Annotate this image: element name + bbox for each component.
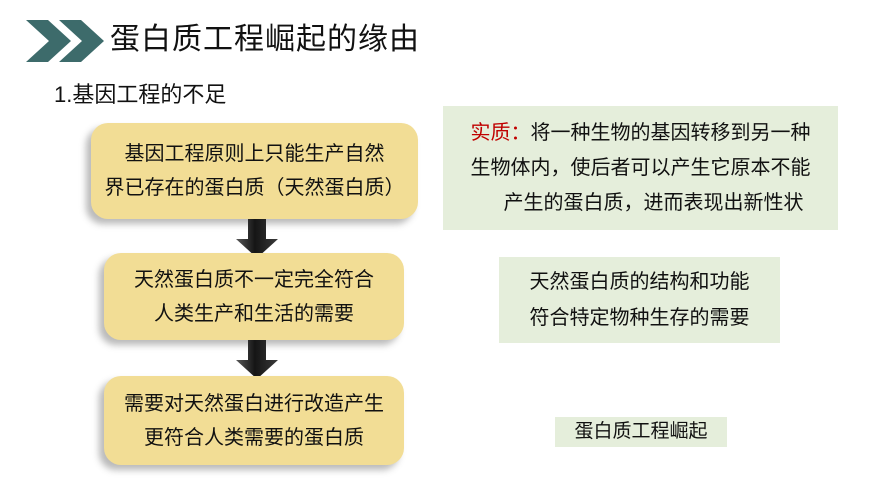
flow-box-line: 人类生产和生活的需要 — [154, 297, 354, 331]
panel-essence: 实质：将一种生物的基因转移到另一种 生物体内，使后者可以产生它原本不能 产生的蛋… — [443, 106, 838, 230]
flow-box-need-modification: 需要对天然蛋白进行改造产生 更符合人类需要的蛋白质 — [104, 376, 404, 465]
panel-essence-line-1: 实质：将一种生物的基因转移到另一种 — [471, 116, 811, 151]
panel-essence-line-3: 产生的蛋白质，进而表现出新性状 — [478, 186, 804, 221]
flow-box-line: 更符合人类需要的蛋白质 — [144, 421, 364, 455]
flow-box-line: 基因工程原则上只能生产自然 — [125, 137, 385, 171]
panel-essence-text-1: 将一种生物的基因转移到另一种 — [531, 122, 811, 144]
panel-structure-function: 天然蛋白质的结构和功能 符合特定物种生存的需要 — [499, 257, 780, 343]
slide-canvas: 蛋白质工程崛起的缘由 1.基因工程的不足 基因工程原则上只能生产自然 界已存在的… — [0, 0, 870, 489]
section-subtitle: 1.基因工程的不足 — [54, 80, 226, 110]
flow-box-line: 天然蛋白质不一定完全符合 — [134, 263, 374, 297]
panel-structure-line: 天然蛋白质的结构和功能 — [530, 264, 750, 300]
panel-result: 蛋白质工程崛起 — [555, 417, 727, 447]
flow-box-gene-engineering-limit: 基因工程原则上只能生产自然 界已存在的蛋白质（天然蛋白质） — [91, 123, 418, 219]
flow-box-line: 界已存在的蛋白质（天然蛋白质） — [105, 171, 405, 205]
panel-essence-line-2: 生物体内，使后者可以产生它原本不能 — [471, 151, 811, 186]
arrow-down-icon — [234, 340, 280, 380]
flow-box-natural-protein-mismatch: 天然蛋白质不一定完全符合 人类生产和生活的需要 — [104, 253, 404, 340]
double-chevron-right-icon — [26, 19, 104, 63]
slide-header: 蛋白质工程崛起的缘由 — [0, 0, 870, 72]
panel-structure-line: 符合特定物种生存的需要 — [530, 300, 750, 336]
flow-box-line: 需要对天然蛋白进行改造产生 — [124, 387, 384, 421]
page-title: 蛋白质工程崛起的缘由 — [110, 18, 420, 62]
essence-label: 实质： — [471, 122, 531, 144]
panel-result-text: 蛋白质工程崛起 — [574, 417, 707, 447]
